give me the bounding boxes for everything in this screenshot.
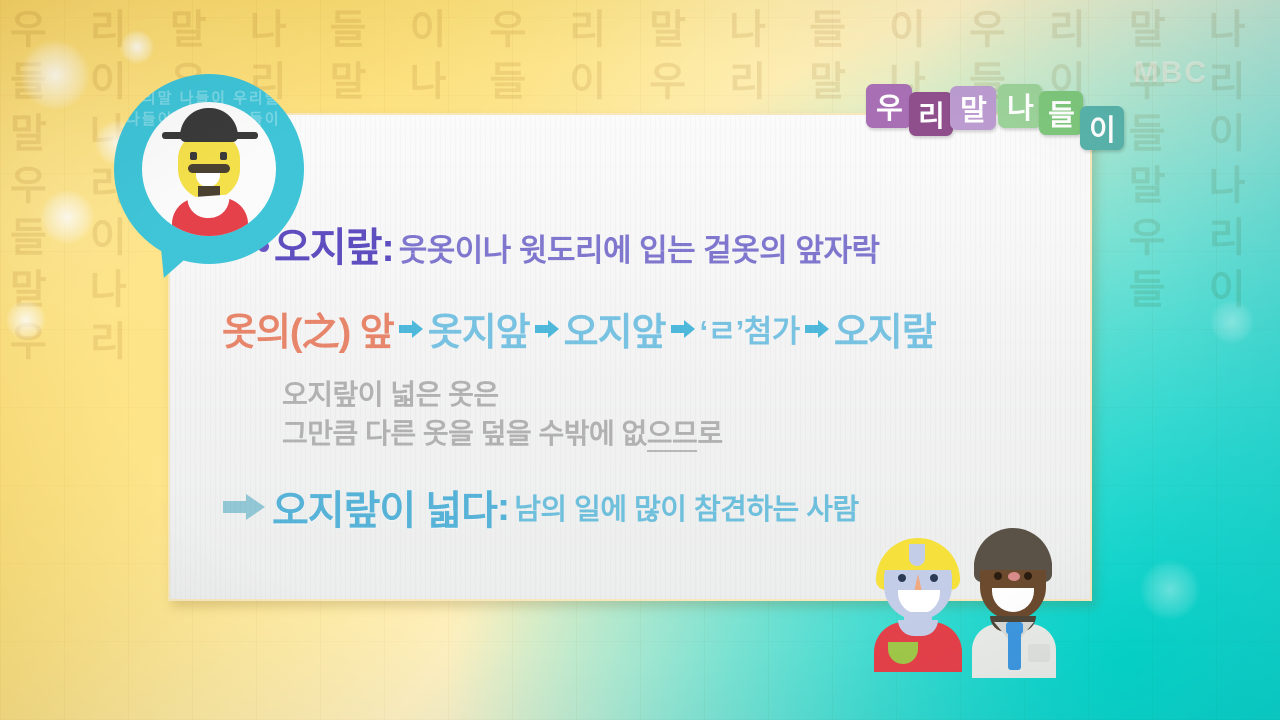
character-dark [964,528,1064,678]
arrow-right-icon [534,318,560,340]
character-dark-eye-right [1024,572,1032,580]
logo-tile-1: 우 [866,84,912,128]
note-underlined-fragment: 으므 [647,418,698,452]
note-line-2: 그만큼 다른 옷을 덮을 수밖에 없으므로 [282,412,723,452]
mascot-eye-left [190,152,197,160]
chain-step-2: 옷지앞 [428,301,530,356]
character-dark-tie [1008,628,1021,670]
program-logo: 우 리 말 나 들 이 [866,84,1124,150]
logo-tile-5: 들 [1039,91,1083,135]
arrow-right-icon [222,491,266,523]
mascot-mouth [196,173,220,187]
arrow-right-icon [398,318,424,340]
arrow-right-icon [804,318,830,340]
bokeh-light [1140,560,1200,620]
bokeh-light [6,300,46,340]
headword-line: 오지랖:웃옷이나 윗도리에 입는 겉옷의 앞자락 [258,215,880,273]
character-dark-nose [1008,572,1020,581]
mascot-gat-brim [162,132,258,139]
chain-step-5: 오지랖 [834,301,936,356]
bokeh-light [20,40,90,110]
character-blond [872,538,964,668]
logo-tile-2: 리 [909,92,953,136]
headword-colon: : [381,226,394,270]
derivation-chain: 옷의(之) 앞 옷지앞 오지앞 ‘ㄹ’첨가 오지랖 [222,301,936,356]
cartoon-characters [872,528,1062,668]
character-blond-eye-left [898,574,906,582]
broadcast-screen: 우 리 말 나 들 이 우 리 말 나 들 이 우 리 말 나 들 이 우 리 … [0,0,1280,720]
logo-tile-3: 말 [950,86,996,130]
mascot-portrait [142,102,276,236]
chain-step-4: ‘ㄹ’첨가 [700,306,800,351]
mascot-mustache [188,164,230,173]
mascot-eye-right [220,152,227,160]
arrow-right-icon [670,318,696,340]
bokeh-light [40,190,94,244]
character-blond-hair-part [909,544,925,566]
character-dark-hair-front [974,538,1052,570]
chain-step-1: 옷의(之) 앞 [222,301,394,356]
character-dark-eye-left [994,572,1002,580]
broadcaster-watermark: MBC [1134,56,1208,90]
idiom-definition: 남의 일에 많이 참견하는 사람 [514,486,858,528]
idiom-keyword: 오지랖이 넓다 [272,478,497,536]
chain-step-3: 오지앞 [564,301,666,356]
logo-tile-4: 나 [998,84,1042,128]
idiom-line: 오지랖이 넓다:남의 일에 많이 참견하는 사람 [222,478,859,536]
mascot-face [178,132,240,200]
idiom-colon: : [497,485,510,530]
character-blond-eye-right [930,574,938,582]
note-line-1: 오지랖이 넓은 옷은 [282,373,499,413]
note-line-2-text: 그만큼 다른 옷을 덮을 수밖에 없으므로 [282,418,723,452]
mascot-avatar: 우리말 나들이 우리말 나들이 우리말 나들이 [114,74,304,264]
headword-definition: 웃옷이나 윗도리에 입는 겉옷의 앞자락 [399,233,880,268]
bokeh-light [120,30,154,64]
bokeh-light [1210,300,1254,344]
character-dark-pocket-badge [1028,644,1050,662]
logo-tile-6: 이 [1080,106,1124,150]
